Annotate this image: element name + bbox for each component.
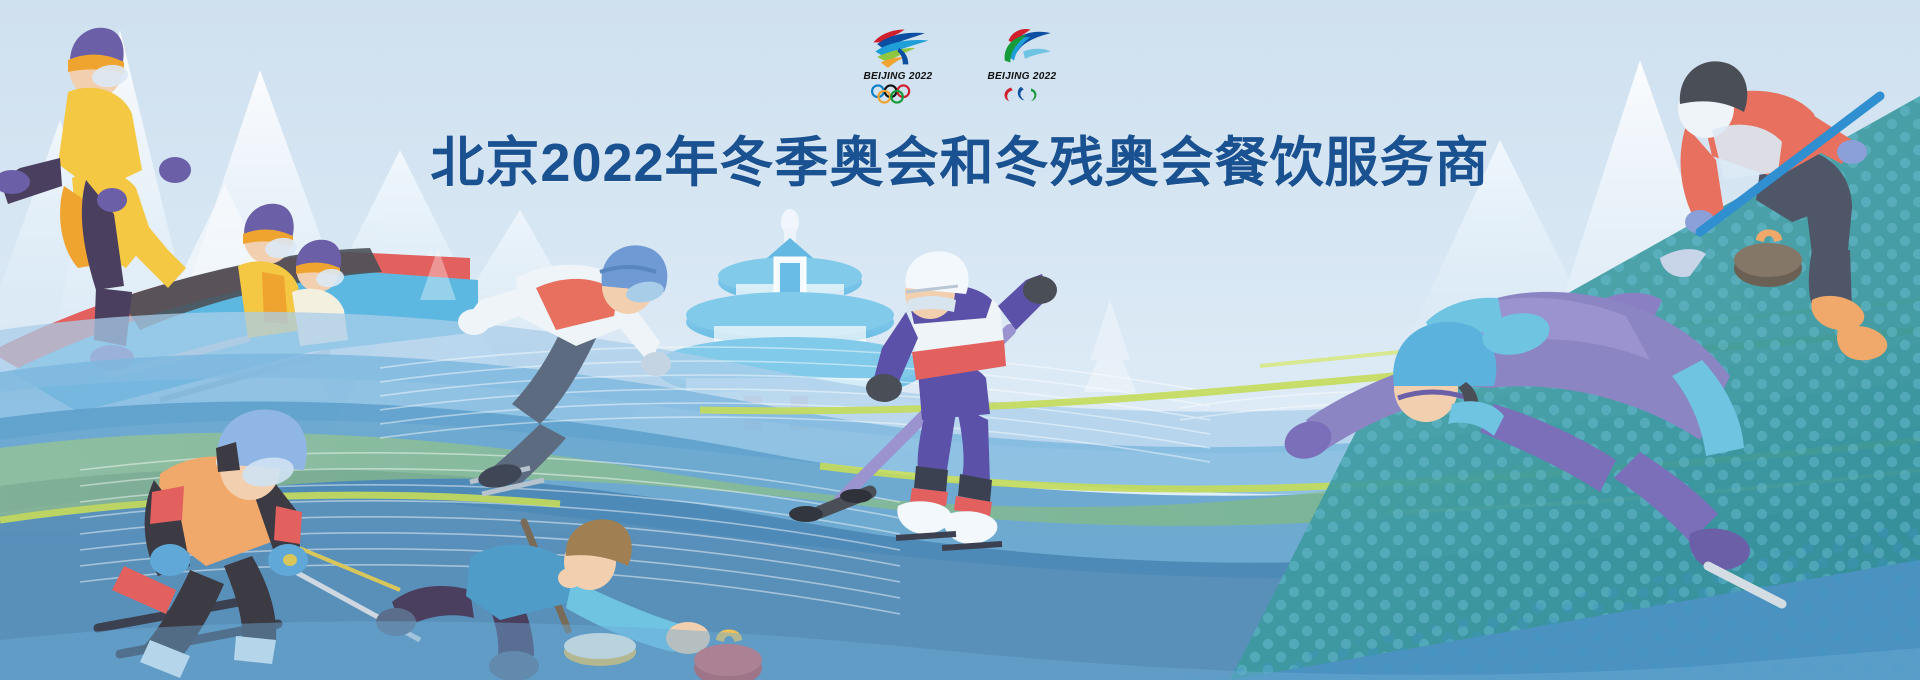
agitos-icon [991, 84, 1053, 104]
olympic-banner: BEIJING 2022 BEIJING 2022 [0, 0, 1920, 680]
logo-beijing-2022-paralympic: BEIJING 2022 [981, 24, 1063, 104]
logo-beijing-2022-olympic: BEIJING 2022 [857, 24, 939, 104]
olympic-emblem-mark [857, 24, 940, 68]
olympic-wordmark: BEIJING 2022 [863, 70, 932, 82]
page-title: 北京2022年冬季奥会和冬残奥会餐饮服务商 [0, 118, 1920, 197]
emblem-group: BEIJING 2022 BEIJING 2022 [857, 24, 1063, 104]
paralympic-emblem-mark [981, 24, 1064, 68]
paralympic-wordmark: BEIJING 2022 [987, 70, 1056, 82]
olympic-rings-icon [867, 84, 929, 104]
